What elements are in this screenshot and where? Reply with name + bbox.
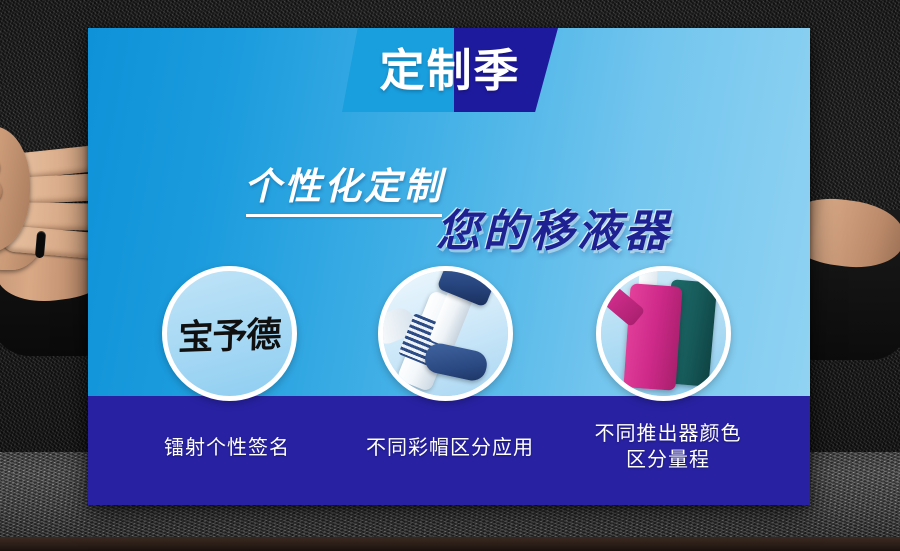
feature-circle-ejector xyxy=(596,266,731,401)
scene: 定制季 个性化定制 您的移液器 宝予德 xyxy=(0,0,900,551)
feature-caption-2: 不同彩帽区分应用 xyxy=(340,436,560,462)
feature-caption-3: 不同推出器颜色区分量程 xyxy=(568,422,768,473)
floor-edge xyxy=(0,537,900,551)
ejector-color-photo-icon xyxy=(601,271,726,396)
brand-signature-text: 宝予德 xyxy=(165,269,295,398)
pipette-cap-photo-icon xyxy=(383,271,508,396)
promotional-poster: 定制季 个性化定制 您的移液器 宝予德 xyxy=(88,28,810,505)
feature-caption-1: 镭射个性签名 xyxy=(132,436,322,462)
feature-circle-signature: 宝予德 xyxy=(162,266,297,401)
feature-captions: 镭射个性签名 不同彩帽区分应用 不同推出器颜色区分量程 xyxy=(88,396,810,505)
feature-circle-pipette xyxy=(378,266,513,401)
